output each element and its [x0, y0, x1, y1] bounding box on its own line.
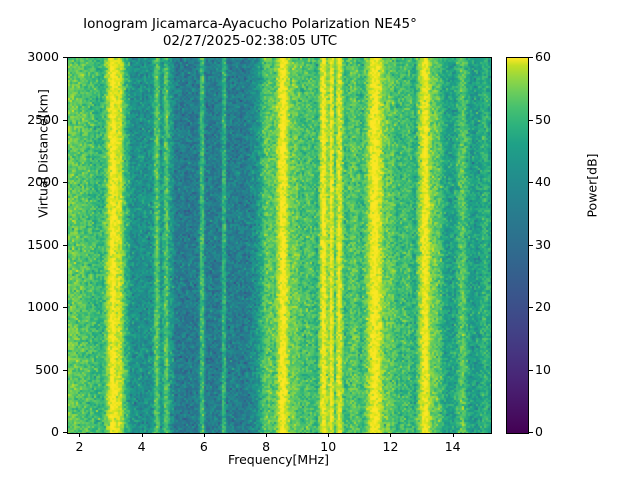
colorbar-tick-label: 10 — [535, 362, 551, 377]
x-tick-label: 4 — [122, 439, 162, 454]
y-tick-label: 500 — [9, 362, 59, 377]
y-tick-mark — [63, 432, 67, 433]
ionogram-heatmap-canvas — [68, 58, 491, 433]
colorbar-tick-mark — [529, 245, 533, 246]
x-tick-mark — [79, 433, 80, 437]
y-tick-label: 1500 — [9, 237, 59, 252]
colorbar-tick-label: 0 — [535, 424, 543, 439]
y-axis-label: Virtual Distance[km] — [36, 59, 51, 249]
x-tick-label: 6 — [184, 439, 224, 454]
x-tick-mark — [390, 433, 391, 437]
x-tick-mark — [204, 433, 205, 437]
ionogram-figure: Ionogram Jicamarca-Ayacucho Polarization… — [0, 0, 640, 480]
colorbar-tick-label: 30 — [535, 237, 551, 252]
x-axis-label: Frequency[MHz] — [67, 452, 490, 467]
colorbar-label: Power[dB] — [585, 91, 600, 281]
colorbar-tick-label: 50 — [535, 112, 551, 127]
y-tick-label: 0 — [9, 424, 59, 439]
colorbar-tick-label: 20 — [535, 299, 551, 314]
y-tick-mark — [63, 245, 67, 246]
colorbar-tick-label: 40 — [535, 174, 551, 189]
colorbar-tick-mark — [529, 120, 533, 121]
y-tick-label: 2000 — [9, 174, 59, 189]
colorbar-tick-mark — [529, 432, 533, 433]
heatmap-axes — [67, 57, 492, 434]
y-tick-label: 1000 — [9, 299, 59, 314]
y-tick-mark — [63, 182, 67, 183]
colorbar-tick-mark — [529, 307, 533, 308]
y-tick-mark — [63, 307, 67, 308]
y-tick-label: 3000 — [9, 49, 59, 64]
figure-title: Ionogram Jicamarca-Ayacucho Polarization… — [0, 16, 500, 50]
y-tick-mark — [63, 370, 67, 371]
title-line-1: Ionogram Jicamarca-Ayacucho Polarization… — [83, 16, 417, 32]
colorbar-tick-mark — [529, 57, 533, 58]
colorbar-tick-mark — [529, 370, 533, 371]
x-tick-mark — [328, 433, 329, 437]
x-tick-label: 10 — [308, 439, 348, 454]
x-tick-mark — [142, 433, 143, 437]
colorbar-tick-mark — [529, 182, 533, 183]
x-tick-mark — [266, 433, 267, 437]
y-tick-mark — [63, 120, 67, 121]
y-tick-label: 2500 — [9, 112, 59, 127]
colorbar — [506, 57, 529, 434]
colorbar-tick-label: 60 — [535, 49, 551, 64]
x-tick-label: 14 — [433, 439, 473, 454]
y-tick-mark — [63, 57, 67, 58]
x-tick-label: 2 — [59, 439, 99, 454]
title-line-2: 02/27/2025-02:38:05 UTC — [0, 33, 500, 50]
x-tick-label: 12 — [370, 439, 410, 454]
x-tick-mark — [453, 433, 454, 437]
x-tick-label: 8 — [246, 439, 286, 454]
